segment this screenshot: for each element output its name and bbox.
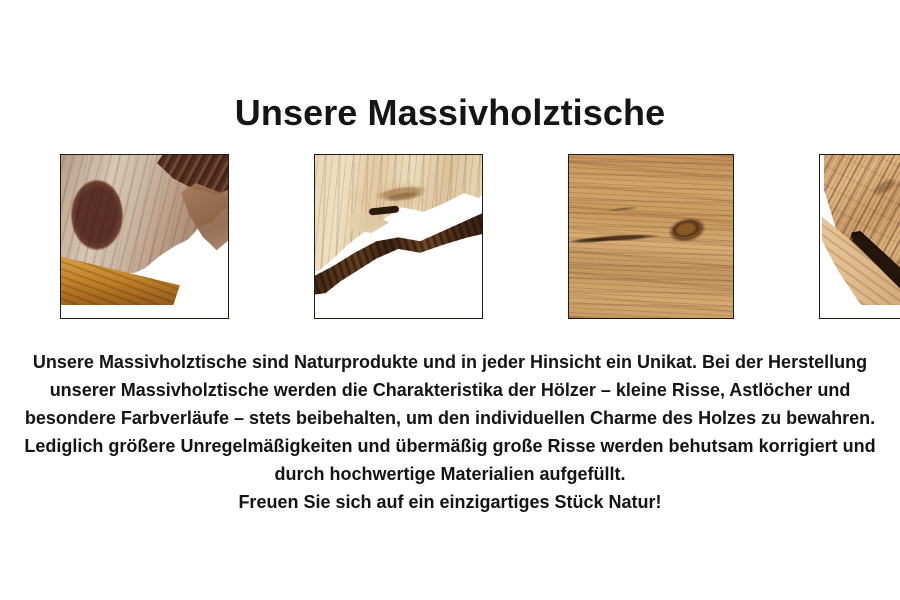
- description-text: Unsere Massivholztische sind Naturproduk…: [18, 348, 882, 516]
- rough-sawn-plank-crack-illustration: [820, 155, 900, 318]
- pale-board-live-edge-illustration: [315, 155, 482, 318]
- gallery-image-4[interactable]: [819, 154, 900, 319]
- wood-table-detail-gallery: [20, 138, 881, 303]
- infographic-page: Unsere Massivholztische: [0, 0, 900, 600]
- gallery-image-2[interactable]: [314, 154, 483, 319]
- honey-plank-knot-illustration: [569, 155, 733, 318]
- gallery-image-1[interactable]: [60, 154, 229, 319]
- wood-slab-corner-knot-illustration: [61, 155, 228, 318]
- gallery-image-3[interactable]: [568, 154, 734, 319]
- page-title: Unsere Massivholztische: [0, 92, 900, 134]
